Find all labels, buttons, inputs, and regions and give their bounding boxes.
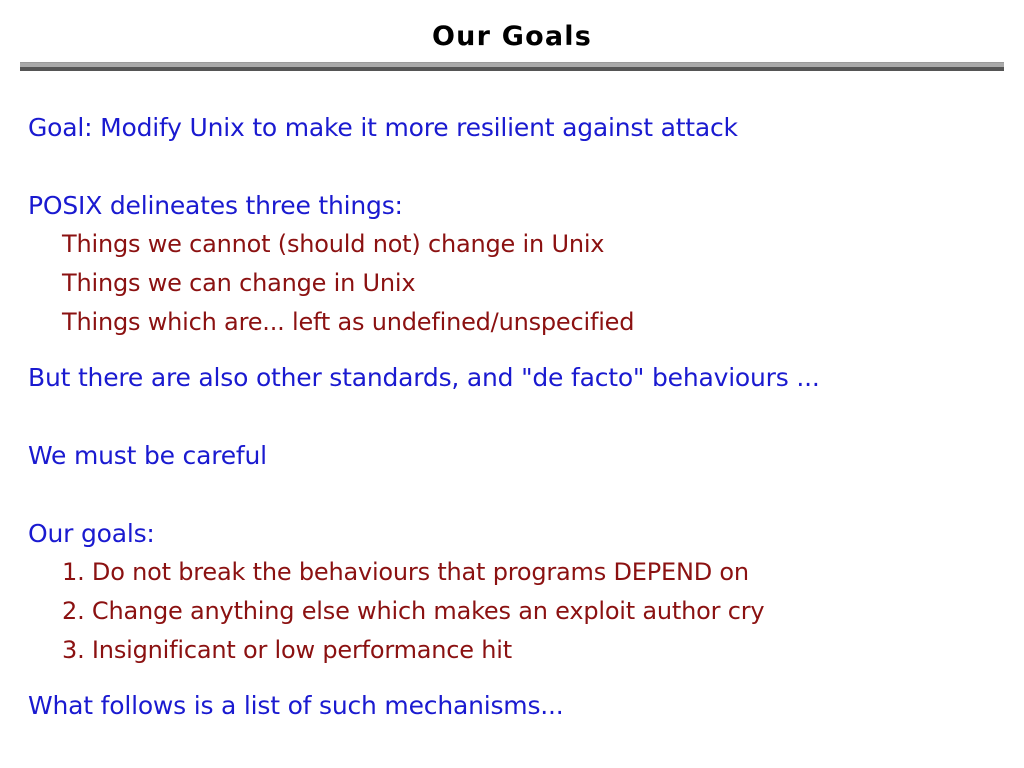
posix-item-1: Things we cannot (should not) change in … <box>62 225 1008 264</box>
goals-item-1: 1. Do not break the behaviours that prog… <box>62 553 1008 592</box>
title-divider <box>20 62 1004 71</box>
goals-item-2: 2. Change anything else which makes an e… <box>62 592 1008 631</box>
goals-heading: Our goals: <box>28 514 1008 553</box>
careful-statement: We must be careful <box>28 436 1008 475</box>
closing-statement: What follows is a list of such mechanism… <box>28 686 1008 725</box>
divider-bottom-edge <box>20 67 1004 71</box>
spacer <box>28 670 1008 686</box>
standards-statement: But there are also other standards, and … <box>28 358 1008 397</box>
spacer <box>28 147 1008 186</box>
spacer <box>28 397 1008 436</box>
slide-body: Goal: Modify Unix to make it more resili… <box>28 108 1008 725</box>
spacer <box>28 475 1008 514</box>
goal-statement: Goal: Modify Unix to make it more resili… <box>28 108 1008 147</box>
title-bar: Our Goals <box>0 22 1024 52</box>
posix-heading: POSIX delineates three things: <box>28 186 1008 225</box>
spacer <box>28 342 1008 358</box>
goals-item-3: 3. Insignificant or low performance hit <box>62 631 1008 670</box>
posix-item-3: Things which are... left as undefined/un… <box>62 303 1008 342</box>
slide: Our Goals Goal: Modify Unix to make it m… <box>0 0 1024 768</box>
posix-item-2: Things we can change in Unix <box>62 264 1008 303</box>
page-title: Our Goals <box>432 22 592 52</box>
